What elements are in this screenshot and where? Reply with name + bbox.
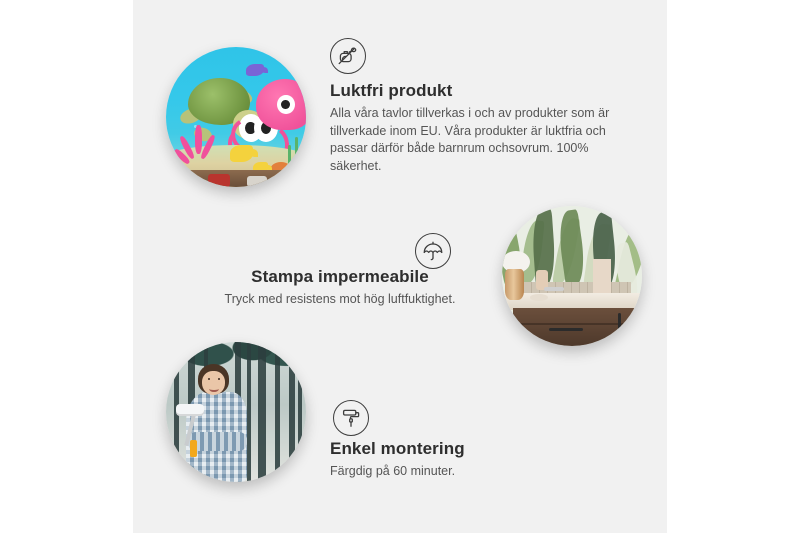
feature-title-odour-free: Luktfri produkt <box>330 80 630 101</box>
no-fragrance-icon <box>330 38 366 74</box>
feature-body-odour-free: Alla våra tavlor tillverkas i och av pro… <box>330 105 630 175</box>
feature-image-easy-mounting <box>166 342 306 482</box>
bathroom-leaf-wallpaper-art <box>502 206 642 346</box>
page-root: Luktfri produkt Alla våra tavlor tillver… <box>0 0 800 533</box>
feature-text-odour-free: Luktfri produkt Alla våra tavlor tillver… <box>330 80 630 175</box>
feature-body-easy-mounting: Färgdig på 60 minuter. <box>330 463 580 481</box>
painter-forest-art <box>166 342 306 482</box>
feature-body-waterproof: Tryck med resistens mot hög luftfuktighe… <box>215 291 465 309</box>
umbrella-icon <box>415 233 451 269</box>
feature-text-waterproof: Stampa impermeabile Tryck med resistens … <box>215 266 465 309</box>
feature-title-waterproof: Stampa impermeabile <box>215 266 465 287</box>
paint-roller-icon <box>333 400 369 436</box>
feature-image-odour-free <box>166 47 306 187</box>
feature-image-waterproof <box>502 206 642 346</box>
feature-text-easy-mounting: Enkel montering Färgdig på 60 minuter. <box>330 438 580 481</box>
underwater-scene-art <box>166 47 306 187</box>
feature-title-easy-mounting: Enkel montering <box>330 438 580 459</box>
